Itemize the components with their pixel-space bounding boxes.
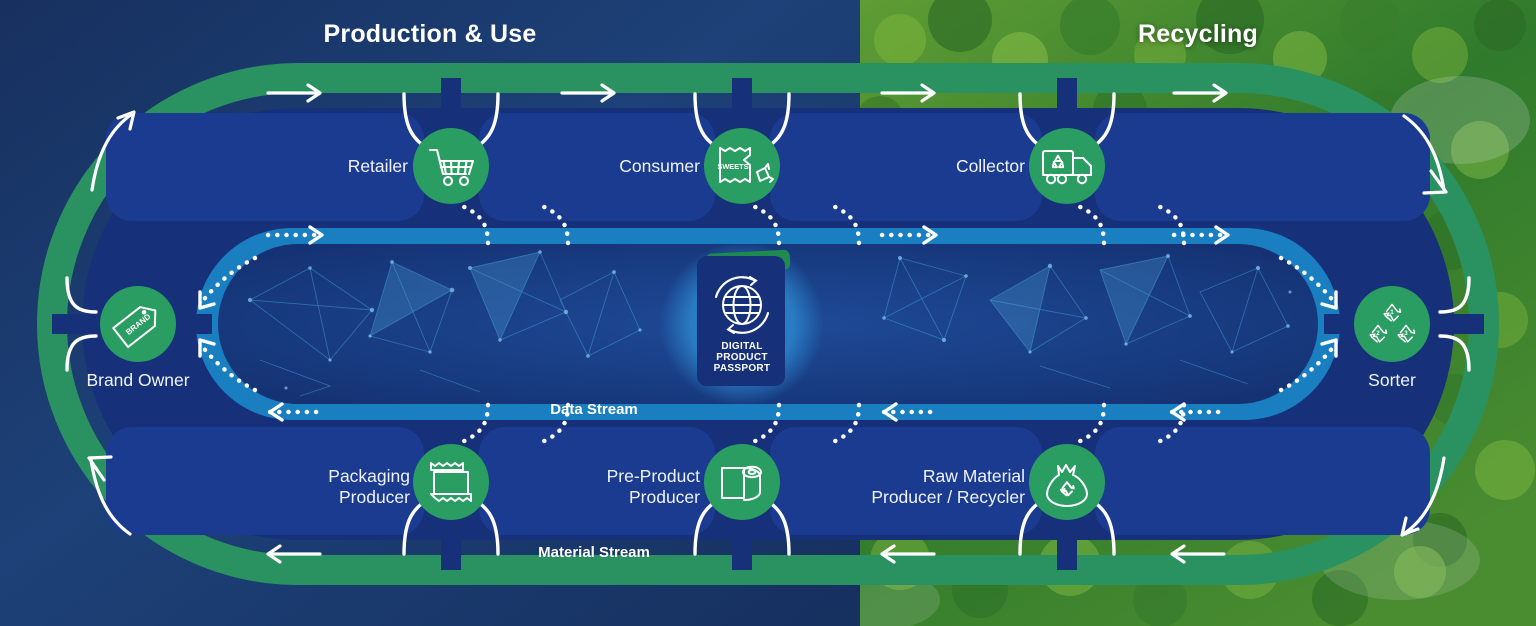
circular-economy-diagram: BRAND SWEETS bbox=[0, 0, 1536, 626]
svg-text:1: 1 bbox=[1390, 309, 1394, 316]
node-label-raw-material: Raw Material Producer / Recycler bbox=[820, 466, 1025, 508]
svg-text:SWEETS: SWEETS bbox=[717, 162, 748, 171]
node-label-sorter: Sorter bbox=[1302, 370, 1482, 391]
node-label-brand-owner: Brand Owner bbox=[48, 370, 228, 391]
node-label-pre-product-line2: Producer bbox=[500, 487, 700, 508]
page-title-production: Production & Use bbox=[0, 20, 860, 49]
node-circle-pre-product[interactable] bbox=[704, 444, 780, 520]
node-label-packaging-line2: Producer bbox=[210, 487, 410, 508]
passport-line-2: PRODUCT bbox=[698, 352, 786, 363]
svg-text:2: 2 bbox=[1376, 330, 1380, 337]
passport-line-1: DIGITAL bbox=[698, 341, 786, 352]
node-circle-sorter[interactable] bbox=[1354, 286, 1430, 362]
node-label-collector: Collector bbox=[835, 156, 1025, 177]
passport-title: DIGITAL PRODUCT PASSPORT bbox=[698, 341, 786, 374]
passport-line-3: PASSPORT bbox=[698, 363, 786, 374]
node-label-packaging-line1: Packaging bbox=[210, 466, 410, 487]
svg-text:3: 3 bbox=[1404, 330, 1408, 337]
node-label-raw-material-line1: Raw Material bbox=[820, 466, 1025, 487]
node-label-pre-product: Pre-Product Producer bbox=[500, 466, 700, 508]
node-label-pre-product-line1: Pre-Product bbox=[500, 466, 700, 487]
material-stream-label: Material Stream bbox=[494, 544, 694, 561]
node-circle-collector[interactable] bbox=[1029, 128, 1105, 204]
node-label-retailer: Retailer bbox=[218, 156, 408, 177]
page-title-recycling: Recycling bbox=[860, 20, 1536, 49]
node-circle-packaging[interactable] bbox=[413, 444, 489, 520]
diagram-canvas: BRAND SWEETS bbox=[0, 0, 1536, 626]
node-label-consumer: Consumer bbox=[510, 156, 700, 177]
node-label-packaging: Packaging Producer bbox=[210, 466, 410, 508]
node-label-raw-material-line2: Producer / Recycler bbox=[820, 487, 1025, 508]
data-stream-label: Data Stream bbox=[494, 401, 694, 418]
